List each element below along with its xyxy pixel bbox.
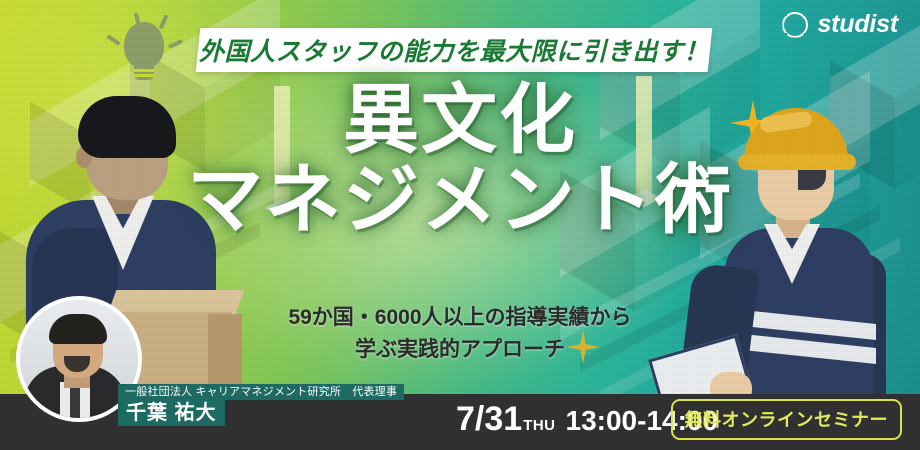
status-badge: 無料オンラインセミナー (671, 399, 903, 440)
webinar-banner: studist 外国人スタッフの能力を最大限に引き出す！ 異文化 マネジメント術… (0, 0, 920, 450)
schedule-weekday: THU (523, 417, 555, 434)
lightbulb-icon (112, 22, 178, 84)
tagline-ribbon: 外国人スタッフの能力を最大限に引き出す！ (196, 28, 713, 72)
logo-wordmark: studist (817, 10, 898, 39)
title-line-2: マネジメント術 (0, 164, 920, 238)
subtitle-line-1: 59か国・6000人以上の指導実績から (0, 302, 920, 334)
schedule-date: 7/31 (456, 400, 522, 439)
speaker-name: 千葉 祐大 (118, 400, 225, 426)
title-line-1: 異文化 (0, 84, 920, 158)
studist-logo[interactable]: studist (782, 10, 898, 39)
tagline-text: 外国人スタッフの能力を最大限に引き出す！ (199, 32, 709, 68)
speaker-organization: 一般社団法人 キャリアマネジメント研究所 代表理事 (118, 384, 404, 400)
dashed-circle-icon (782, 12, 808, 38)
page-title: 異文化 マネジメント術 (0, 84, 920, 239)
